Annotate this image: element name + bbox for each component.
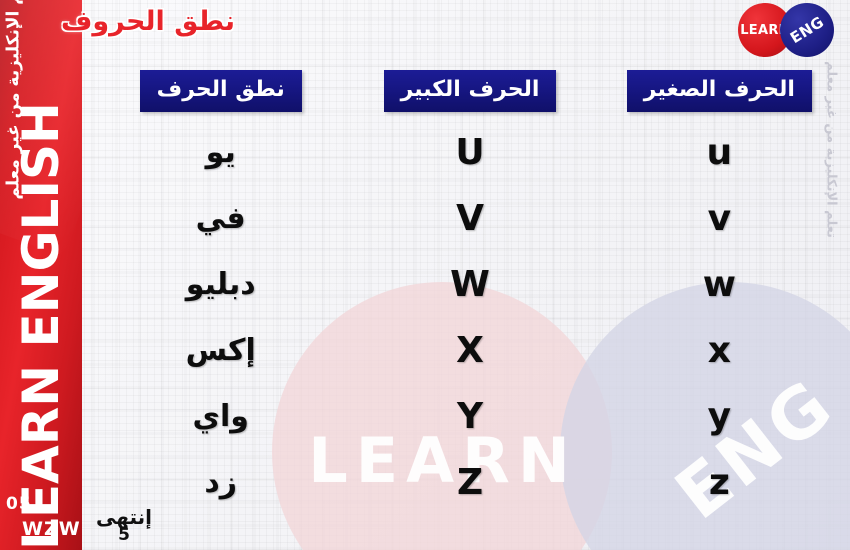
table-row: z Z زد	[96, 450, 844, 516]
banner-lesson-number: 05	[6, 494, 32, 514]
logo-eng-label: ENG	[787, 13, 827, 47]
page-title: نطق الحروف	[61, 6, 235, 37]
slide-root: LEARN ENG تعلم الإنكليزية من غير معلم LE…	[0, 0, 850, 550]
brand-logo: LEARN ENG	[738, 3, 846, 58]
header-cell-uppercase: الحرف الكبير	[345, 62, 594, 120]
cell-uppercase: Y	[345, 399, 594, 435]
banner-code: WZW	[22, 518, 81, 540]
cell-pronunciation: واي	[96, 402, 345, 432]
header-label-pronunciation: نطق الحرف	[140, 70, 302, 111]
header-label-lowercase: الحرف الصغير	[627, 70, 812, 111]
table-row: u U يو	[96, 120, 844, 186]
table-row: v V في	[96, 186, 844, 252]
cell-pronunciation: زد	[96, 468, 345, 498]
cell-lowercase: z	[595, 465, 844, 501]
cell-uppercase: Z	[345, 465, 594, 501]
banner-subtitle: تعلم الإنكليزية من غير معلم	[6, 0, 23, 369]
table-row: w W دبليو	[96, 252, 844, 318]
table-row: y Y واي	[96, 384, 844, 450]
cell-pronunciation: في	[96, 204, 345, 234]
end-note-number: 5	[96, 527, 152, 544]
cell-pronunciation: يو	[96, 138, 345, 168]
table-header-row: الحرف الصغير الحرف الكبير نطق الحرف	[96, 62, 844, 120]
cell-lowercase: x	[595, 333, 844, 369]
end-note: إنتهى 5	[96, 507, 152, 544]
cell-uppercase: U	[345, 135, 594, 171]
cell-uppercase: X	[345, 333, 594, 369]
cell-lowercase: v	[595, 201, 844, 237]
header-cell-lowercase: الحرف الصغير	[595, 62, 844, 120]
header-label-uppercase: الحرف الكبير	[384, 70, 557, 111]
cell-lowercase: w	[595, 267, 844, 303]
table-row: x X إكس	[96, 318, 844, 384]
letters-table: الحرف الصغير الحرف الكبير نطق الحرف u U …	[96, 62, 844, 542]
cell-uppercase: W	[345, 267, 594, 303]
left-red-banner: LEARN ENGLISH تعلم الإنكليزية من غير معل…	[0, 0, 82, 550]
logo-eng-circle: ENG	[780, 3, 834, 57]
header-cell-pronunciation: نطق الحرف	[96, 62, 345, 120]
end-note-word: إنتهى	[96, 507, 152, 527]
cell-lowercase: u	[595, 135, 844, 171]
cell-lowercase: y	[595, 399, 844, 435]
cell-uppercase: V	[345, 201, 594, 237]
table-body: u U يو v V في w W دبليو x X إكس y Y	[96, 120, 844, 516]
banner-title: LEARN ENGLISH	[16, 30, 66, 550]
cell-pronunciation: إكس	[96, 336, 345, 366]
cell-pronunciation: دبليو	[96, 270, 345, 300]
